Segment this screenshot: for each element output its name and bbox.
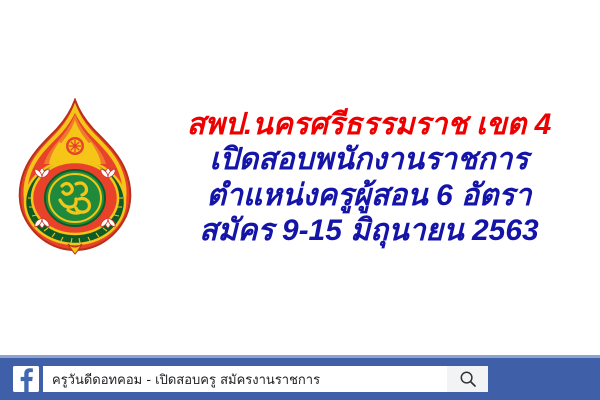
- facebook-footer-bar: ครูวันดีดอทคอม - เปิดสอบครู สมัครงานราชก…: [0, 355, 600, 400]
- search-button[interactable]: [447, 366, 488, 392]
- obec-emblem-icon: [16, 98, 134, 258]
- emblem-container: [0, 0, 150, 355]
- announcement-banner: สพป.นครศรีธรรมราช เขต 4 เปิดสอบพนักงานรา…: [0, 0, 600, 355]
- headline-block: สพป.นครศรีธรรมราช เขต 4 เปิดสอบพนักงานรา…: [150, 107, 600, 247]
- headline-line-1: สพป.นครศรีธรรมราช เขต 4: [187, 107, 552, 142]
- search-input[interactable]: ครูวันดีดอทคอม - เปิดสอบครู สมัครงานราชก…: [43, 369, 447, 390]
- facebook-search-bar[interactable]: ครูวันดีดอทคอม - เปิดสอบครู สมัครงานราชก…: [43, 366, 488, 392]
- headline-line-3: ตำแหน่งครูผู้สอน 6 อัตรา: [206, 178, 531, 213]
- search-icon: [459, 370, 477, 388]
- headline-line-4: สมัคร 9-15 มิถุนายน 2563: [199, 213, 538, 248]
- headline-line-2: เปิดสอบพนักงานราชการ: [209, 142, 528, 177]
- facebook-f-icon[interactable]: [13, 366, 39, 392]
